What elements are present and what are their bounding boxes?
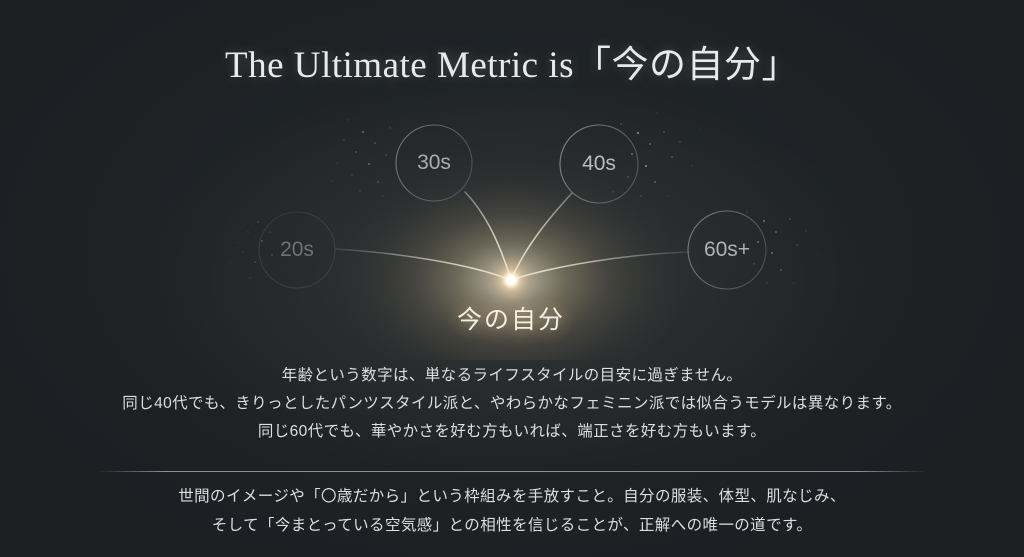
age-convergence-diagram: 20s 30s 40s 60s+ 今の自分 — [0, 0, 1024, 360]
node-ring-20s — [259, 212, 335, 288]
particle-cloud-20s — [225, 221, 273, 279]
slide-root: The Ultimate Metric is「今の自分」 — [0, 0, 1024, 557]
footer-line: そして「今まとっている空気感」との相性を信じることが、正解への唯一の道です。 — [0, 511, 1024, 540]
footer-line: 世間のイメージや「〇歳だから」という枠組みを手放すこと。自分の服装、体型、肌なじ… — [0, 482, 1024, 511]
footer-copy: 世間のイメージや「〇歳だから」という枠組みを手放すこと。自分の服装、体型、肌なじ… — [0, 482, 1024, 540]
particle-cloud-30s — [331, 119, 390, 196]
section-divider — [100, 471, 925, 472]
core-label: 今の自分 — [457, 300, 565, 336]
particle-cloud-60s — [739, 211, 818, 283]
body-line: 年齢という数字は、単なるライフスタイルの目安に過ぎません。 — [0, 362, 1024, 390]
body-copy: 年齢という数字は、単なるライフスタイルの目安に過ぎません。 同じ40代でも、きり… — [0, 362, 1024, 446]
particle-cloud-40s — [612, 112, 700, 196]
body-line: 同じ40代でも、きりっとしたパンツスタイル派と、やわらかなフェミニン派では似合う… — [0, 390, 1024, 418]
node-ring-60s — [688, 211, 766, 289]
body-line: 同じ60代でも、華やかさを好む方もいれば、端正さを好む方もいます。 — [0, 418, 1024, 446]
core-point-bright — [506, 275, 515, 284]
